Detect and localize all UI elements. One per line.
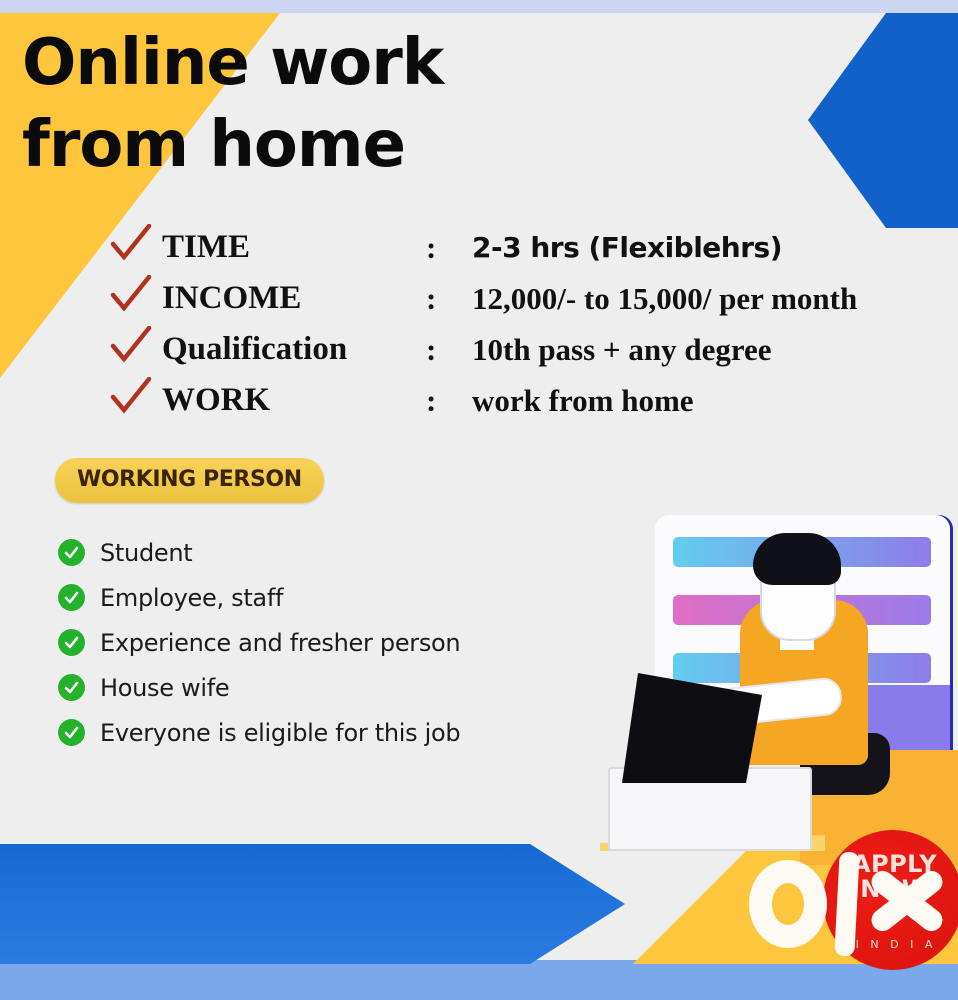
page-title-line1: Online work — [22, 26, 443, 100]
detail-colon: : — [426, 281, 436, 317]
red-check-icon — [110, 326, 152, 366]
illustration-person-hair — [753, 533, 841, 585]
page-title: Online work from home — [22, 22, 662, 186]
detail-row: WORK : work from home — [110, 375, 958, 426]
olx-watermark: APPLY NOW I N D I A — [745, 828, 950, 978]
list-item-label: House wife — [100, 674, 229, 702]
green-check-circle-icon — [58, 584, 85, 611]
working-person-badge: WORKING PERSON — [55, 458, 324, 503]
eligibility-list: Student Employee, staff Experience and f… — [58, 530, 618, 755]
detail-value: 12,000/- to 15,000/ per month — [472, 281, 857, 317]
list-item-label: Everyone is eligible for this job — [100, 719, 460, 747]
page-title-line2: from home — [22, 104, 662, 186]
poster-canvas: Online work from home TIME : 2-3 hrs (Fl… — [0, 0, 958, 1000]
list-item-label: Employee, staff — [100, 584, 283, 612]
person-working-on-laptop-illustration — [600, 505, 958, 860]
list-item: Student — [58, 530, 618, 575]
red-check-icon — [110, 224, 152, 264]
list-item: House wife — [58, 665, 618, 710]
red-check-icon — [110, 377, 152, 417]
red-check-icon — [110, 275, 152, 315]
blue-chevron-shape — [808, 13, 958, 228]
detail-row: INCOME : 12,000/- to 15,000/ per month — [110, 273, 958, 324]
green-check-circle-icon — [58, 629, 85, 656]
green-check-circle-icon — [58, 719, 85, 746]
olx-letter-o-icon — [749, 860, 827, 948]
detail-colon: : — [426, 230, 436, 266]
olx-logo — [745, 850, 950, 960]
green-check-circle-icon — [58, 539, 85, 566]
details-list: TIME : 2-3 hrs (Flexiblehrs) INCOME : 12… — [110, 222, 958, 426]
detail-label: INCOME — [162, 280, 301, 317]
detail-row: Qualification : 10th pass + any degree — [110, 324, 958, 375]
detail-colon: : — [426, 332, 436, 368]
list-item: Everyone is eligible for this job — [58, 710, 618, 755]
top-accent-strip — [0, 0, 958, 13]
detail-label: Qualification — [162, 331, 347, 368]
detail-label: WORK — [162, 382, 270, 419]
detail-label: TIME — [162, 229, 250, 266]
list-item-label: Experience and fresher person — [100, 629, 460, 657]
detail-value: work from home — [472, 383, 694, 419]
detail-value: 10th pass + any degree — [472, 332, 772, 368]
bottom-blue-banner — [0, 844, 625, 964]
detail-colon: : — [426, 383, 436, 419]
detail-value: 2-3 hrs (Flexiblehrs) — [472, 231, 782, 264]
list-item-label: Student — [100, 539, 192, 567]
green-check-circle-icon — [58, 674, 85, 701]
detail-row: TIME : 2-3 hrs (Flexiblehrs) — [110, 222, 958, 273]
list-item: Experience and fresher person — [58, 620, 618, 665]
list-item: Employee, staff — [58, 575, 618, 620]
olx-letter-l-icon — [834, 852, 859, 957]
